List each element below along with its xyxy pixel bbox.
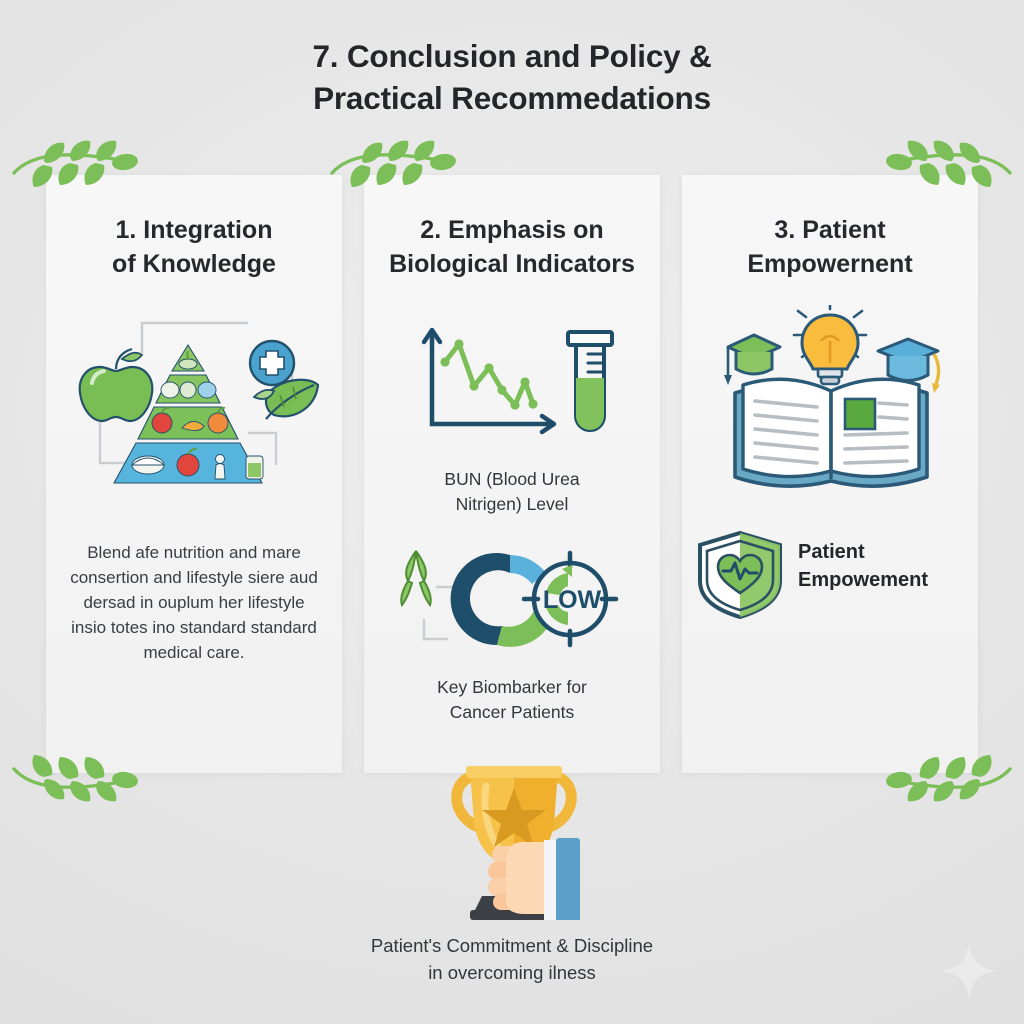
donut-chart-ribbon-target-icon: LOW	[390, 543, 630, 659]
column-3-heading-line2: Empowernent	[682, 247, 978, 281]
column-2-caption-bottom: Key Biombarker for Cancer Patients	[382, 675, 642, 726]
column-3-heading: 3. Patient Empowernent	[682, 213, 978, 281]
target-low-label: LOW	[543, 586, 602, 614]
leaf-branch-ornament	[326, 139, 456, 191]
column-2-caption-bottom-line2: Cancer Patients	[382, 700, 642, 725]
badge-line1: Patient	[798, 541, 865, 563]
column-2-caption-bottom-line1: Key Biombarker for	[437, 677, 587, 697]
column-2-heading-line2: Biological Indicators	[364, 247, 660, 281]
patient-empowerment-badge: Patient Empowement	[694, 525, 966, 621]
column-2-heading: 2. Emphasis on Biological Indicators	[364, 213, 660, 281]
page-title: 7. Conclusion and Policy & Practical Rec…	[0, 36, 1024, 120]
column-2-caption-top-line1: BUN (Blood Urea	[444, 469, 579, 489]
badge-line2: Empowement	[798, 567, 928, 595]
column-1-heading-line2: of Knowledge	[46, 247, 342, 281]
column-1-body-text: Blend afe nutrition and mare consertion …	[68, 541, 320, 666]
patient-empowerment-badge-text: Patient Empowement	[798, 539, 928, 594]
column-2-caption-top-line2: Nitrigen) Level	[382, 492, 642, 517]
footer-caption-line1: Patient's Commitment & Discipline	[371, 935, 653, 956]
footer-caption-line2: in overcoming ilness	[162, 959, 862, 986]
leaf-branch-ornament	[8, 751, 138, 803]
column-patient-empowerment[interactable]: 3. Patient Empowernent	[682, 175, 978, 773]
leaf-branch-ornament	[886, 751, 1016, 803]
column-3-heading-line1: 3. Patient	[774, 216, 885, 244]
page-title-line2: Practical Recommedations	[0, 78, 1024, 120]
open-book-graduation-lightbulb-icon	[706, 305, 956, 495]
column-2-caption-top: BUN (Blood Urea Nitrigen) Level	[382, 467, 642, 518]
four-point-star-sparkle-icon	[938, 940, 1000, 1002]
column-biological-indicators[interactable]: 2. Emphasis on Biological Indicators	[364, 175, 660, 773]
declining-line-chart-test-tube-icon	[402, 320, 627, 450]
column-2-heading-line1: 2. Emphasis on	[420, 216, 603, 244]
column-1-heading-line1: 1. Integration	[116, 216, 273, 244]
columns-container: 1. Integration of Knowledge	[0, 175, 1024, 775]
leaf-branch-ornament	[8, 139, 138, 191]
food-pyramid-nutrition-icon	[70, 315, 320, 525]
trophy-in-hand-icon	[434, 762, 594, 920]
footer-caption: Patient's Commitment & Discipline in ove…	[162, 932, 862, 986]
column-1-heading: 1. Integration of Knowledge	[46, 213, 342, 281]
column-integration-of-knowledge[interactable]: 1. Integration of Knowledge	[46, 175, 342, 773]
infographic-canvas: 7. Conclusion and Policy & Practical Rec…	[0, 0, 1024, 1024]
page-title-line1: 7. Conclusion and Policy &	[312, 38, 711, 74]
leaf-branch-ornament	[886, 139, 1016, 191]
